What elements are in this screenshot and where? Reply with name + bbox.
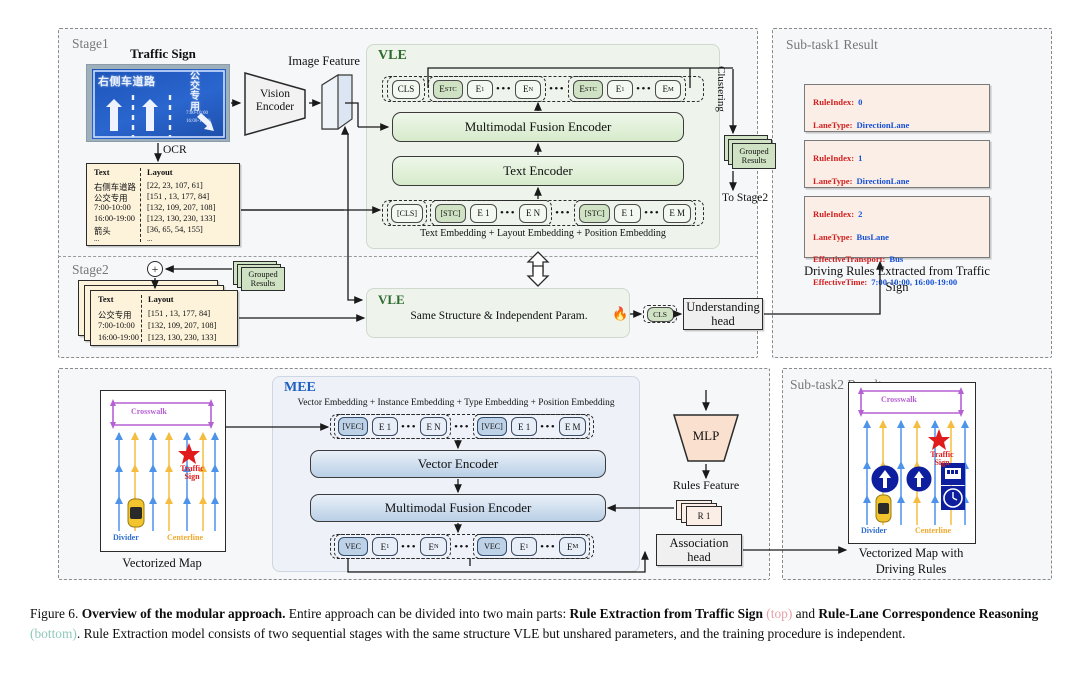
- caption-bold1: Rule Extraction from Traffic Sign: [570, 606, 763, 621]
- subtask1-label: Sub-task1 Result: [786, 36, 896, 54]
- caption-mid: and: [792, 606, 818, 621]
- figure-caption: Figure 6. Overview of the modular approa…: [30, 604, 1052, 644]
- vle-out-group-2: ESTC E1 ••• EM: [568, 76, 686, 102]
- ellipsis-out-b: •••: [633, 83, 655, 95]
- rule-2-line-1: LaneType: BusLane: [813, 225, 981, 248]
- rule-card-1[interactable]: RuleIndex: 1 LaneType: DirectionLane Lan…: [804, 140, 990, 188]
- ocr-cell-layout-1: [151 , 13, 177, 84]: [147, 192, 209, 201]
- sum-node: +: [147, 261, 163, 277]
- subtask1-label-text: Sub-task1 Result: [786, 37, 878, 52]
- vle-in-group-1: [STC] E 1 ••• E N: [430, 200, 552, 226]
- caption-bottom: (bottom): [30, 626, 77, 641]
- map-right-crosswalk-label: Crosswalk: [881, 395, 917, 404]
- caption-title: Overview of the modular approach.: [82, 606, 286, 621]
- map-left-divider-label: Divider: [113, 533, 139, 542]
- token-em-mee-in-b[interactable]: E M: [559, 417, 586, 436]
- stage2-header-text: Text: [98, 295, 114, 304]
- traffic-sign-title: Traffic Sign: [108, 46, 218, 62]
- map-right-traffic-sign-label: Traffic Sign: [925, 451, 959, 468]
- rule-0-val-1: DirectionLane: [856, 120, 909, 130]
- stage2-label: Stage2: [72, 262, 109, 278]
- map-left-traffic-sign-text: Traffic Sign: [180, 464, 203, 481]
- ocr-cell-layout-3: [123, 130, 230, 133]: [147, 214, 215, 223]
- token-e1-mee-in-a[interactable]: E 1: [372, 417, 398, 436]
- ellipsis-mee-out-b: •••: [537, 541, 559, 553]
- ocr-cell-layout-2: [132, 109, 207, 108]: [147, 203, 215, 212]
- vle-embedding-caption: Text Embedding + Layout Embedding + Posi…: [382, 228, 704, 239]
- token-e1-in-b[interactable]: E 1: [614, 204, 641, 223]
- rule-1-val-0: 1: [858, 153, 862, 163]
- vle-in-cls-group: [CLS]: [387, 200, 427, 226]
- ocr-table-divider: [140, 168, 141, 242]
- rule-0-key-0: RuleIndex:: [813, 97, 854, 107]
- figure-canvas: Stage1 Stage2 Sub-task1 Result Traffic S…: [0, 0, 1080, 600]
- mee-in-group-1: [VEC] E 1 ••• E N: [334, 414, 451, 439]
- token-estc-1[interactable]: ESTC: [433, 80, 463, 99]
- stage2-cell-text-0: 公交专用: [98, 309, 132, 321]
- mee-out-group-1: VEC E1 ••• EN: [334, 534, 451, 559]
- stage2-cell-layout-2: [123, 130, 230, 133]: [148, 333, 216, 342]
- token-vec-out-2[interactable]: VEC: [477, 537, 507, 556]
- token-em-mee-out-b[interactable]: EM: [559, 537, 586, 556]
- ellipsis-mee-in-a: •••: [398, 421, 420, 433]
- multimodal-fusion-encoder-stage1[interactable]: Multimodal Fusion Encoder: [392, 112, 684, 142]
- ocr-cell-text-5: ...: [94, 235, 99, 243]
- ocr-cell-layout-5: ...: [147, 235, 152, 243]
- cls-token-stage2[interactable]: CLS: [647, 307, 674, 322]
- ocr-cell-layout-4: [36, 65, 54, 155]: [147, 225, 203, 234]
- token-cls-out[interactable]: CLS: [392, 80, 420, 99]
- rule-card-2[interactable]: RuleIndex: 2 LaneType: BusLane Effective…: [804, 196, 990, 258]
- subtask1-caption: Driving Rules Extracted from Traffic Sig…: [804, 264, 990, 295]
- subtask2-caption-text: Vectorized Map with Driving Rules: [859, 546, 964, 576]
- mee-input-token-row: [VEC] E 1 ••• E N ••• [VEC] E 1 ••• E M: [330, 414, 594, 439]
- caption-top: (top): [766, 606, 792, 621]
- stage1-label: Stage1: [72, 36, 109, 52]
- vle-input-token-row: [CLS] [STC] E 1 ••• E N ••• [STC] E 1 ••…: [382, 200, 704, 226]
- rule-0-val-0: 0: [858, 97, 862, 107]
- stage2-header-layout: Layout: [148, 295, 174, 304]
- vector-encoder-label: Vector Encoder: [418, 456, 499, 472]
- stage2-table-divider: [141, 295, 142, 342]
- rule-1-key-0: RuleIndex:: [813, 153, 854, 163]
- caption-bold2: Rule-Lane Correspondence Reasoning: [818, 606, 1038, 621]
- ocr-table-header-layout: Layout: [147, 168, 173, 177]
- rules-feature-stack[interactable]: R 1: [676, 500, 732, 528]
- mee-embedding-caption: Vector Embedding + Instance Embedding + …: [278, 398, 634, 408]
- image-feature-shape: [318, 73, 360, 135]
- ocr-label: OCR: [163, 144, 187, 156]
- sign-arrows-icon: [92, 69, 226, 139]
- token-stc-in-1[interactable]: [STC]: [435, 204, 466, 223]
- vision-encoder-text: Vision Encoder: [256, 88, 294, 113]
- token-stc-in-2[interactable]: [STC]: [579, 204, 610, 223]
- stage2-cell-layout-0: [151 , 13, 177, 84]: [148, 309, 210, 318]
- mlp-label: MLP: [668, 428, 744, 444]
- text-encoder-label: Text Encoder: [503, 163, 572, 179]
- understanding-head-label: Understanding head: [684, 300, 762, 328]
- rule-2-val-0: 2: [858, 209, 862, 219]
- ocr-cell-layout-0: [22, 23, 107, 61]: [147, 181, 203, 190]
- vectorized-map-caption: Vectorized Map: [100, 556, 224, 571]
- understanding-head[interactable]: Understanding head: [683, 298, 763, 330]
- vle-out-cls-group: CLS: [387, 76, 425, 102]
- ellipsis-mee-in-b: •••: [537, 421, 559, 433]
- token-e1-mee-out-b[interactable]: E1: [511, 537, 537, 556]
- rule-0-line-0: RuleIndex: 0: [813, 90, 981, 113]
- ellipsis-out-a: •••: [493, 83, 515, 95]
- token-cls-in[interactable]: [CLS]: [391, 204, 423, 223]
- time-restriction-sign-icon: [941, 486, 965, 510]
- vle-tag-stage2: VLE: [378, 292, 405, 308]
- multimodal-fusion-encoder-mee-label: Multimodal Fusion Encoder: [385, 500, 532, 516]
- map-left-crosswalk-label: Crosswalk: [131, 407, 167, 416]
- traffic-sign-star-icon: [178, 443, 200, 464]
- cls-token-stage2-wrap: CLS: [643, 305, 677, 323]
- image-feature-title: Image Feature: [283, 54, 365, 69]
- vle-out-group-1: ESTC E1 ••• EN: [428, 76, 546, 102]
- token-en-in-a[interactable]: E N: [519, 204, 547, 223]
- token-vec-out-1[interactable]: VEC: [338, 537, 368, 556]
- rules-feature-label: Rules Feature: [660, 478, 752, 493]
- traffic-sign-star-icon-right: [928, 429, 950, 450]
- rule-1-line-0: RuleIndex: 1: [813, 146, 981, 169]
- vector-encoder[interactable]: Vector Encoder: [310, 450, 606, 478]
- token-e1-mee-out-a[interactable]: E1: [372, 537, 398, 556]
- caption-body1: Entire approach can be divided into two …: [285, 606, 569, 621]
- car-icon-right: [876, 495, 891, 522]
- stage2-cell-text-2: 16:00-19:00: [98, 333, 139, 342]
- token-vec-in-2[interactable]: [VEC]: [477, 417, 507, 436]
- vle-in-group-2: [STC] E 1 ••• E M: [574, 200, 696, 226]
- token-e1-in-a[interactable]: E 1: [470, 204, 497, 223]
- rules-feature-token[interactable]: R 1: [686, 506, 722, 526]
- map-left-traffic-sign-label: Traffic Sign: [175, 465, 209, 482]
- association-head[interactable]: Association head: [656, 534, 742, 566]
- subtask2-caption: Vectorized Map with Driving Rules: [838, 546, 984, 577]
- multimodal-fusion-encoder-mee[interactable]: Multimodal Fusion Encoder: [310, 494, 606, 522]
- map-right-divider-label: Divider: [861, 526, 887, 535]
- map-left-centerline-label: Centerline: [167, 533, 203, 542]
- stage-divider: [58, 256, 758, 257]
- association-head-label: Association head: [657, 536, 741, 564]
- mee-out-group-2: VEC E1 ••• EM: [473, 534, 590, 559]
- car-icon: [128, 499, 144, 527]
- rule-1-line-1: LaneType: DirectionLane: [813, 169, 981, 192]
- ellipsis-in-b: •••: [641, 207, 663, 219]
- rule-2-key-1: LaneType:: [813, 232, 852, 242]
- token-e1-a[interactable]: E1: [467, 80, 493, 99]
- vision-encoder-label: Vision Encoder: [246, 88, 304, 113]
- stage2-cell-text-1: 7:00-10:00: [98, 321, 135, 330]
- go-straight-sign-icon-1: [872, 466, 898, 492]
- caption-body2: . Rule Extraction model consists of two …: [77, 626, 906, 641]
- go-straight-sign-icon-2: [907, 467, 931, 491]
- sum-node-label: +: [152, 263, 159, 275]
- flame-icon: 🔥: [612, 306, 628, 322]
- grouped-results-2[interactable]: Grouped Results: [241, 267, 285, 291]
- text-encoder-stage1[interactable]: Text Encoder: [392, 156, 684, 186]
- rule-2-val-2: Bus: [889, 254, 903, 264]
- ocr-cell-text-2: 7:00-10:00: [94, 203, 131, 212]
- ellipsis-mee-out-mid: •••: [451, 541, 473, 553]
- ellipsis-mee-out-a: •••: [398, 541, 420, 553]
- vle-tag-stage1: VLE: [378, 48, 407, 64]
- grouped-results-2-label: Grouped Results: [242, 270, 284, 289]
- rule-2-key-0: RuleIndex:: [813, 209, 854, 219]
- ocr-cell-text-3: 16:00-19:00: [94, 214, 135, 223]
- vectorized-map-right: Crosswalk Traffic Sign Divider Centerlin…: [848, 382, 976, 544]
- token-vec-in-1[interactable]: [VEC]: [338, 417, 368, 436]
- multimodal-fusion-encoder-label: Multimodal Fusion Encoder: [465, 119, 612, 135]
- rule-0-line-1: LaneType: DirectionLane: [813, 113, 981, 136]
- ellipsis-out-mid: •••: [546, 83, 568, 95]
- traffic-sign-image: 右侧车道路 公交专用 7:00-10:00 16:00-19:00: [86, 64, 230, 142]
- ellipsis-mee-in-mid: •••: [451, 421, 473, 433]
- rule-2-key-2: EffectiveTransport:: [813, 254, 885, 264]
- caption-number: Figure 6.: [30, 606, 78, 621]
- token-estc-2[interactable]: ESTC: [573, 80, 603, 99]
- mee-output-token-row: VEC E1 ••• EN ••• VEC E1 ••• EM: [330, 534, 594, 559]
- rule-1-key-1: LaneType:: [813, 176, 852, 186]
- token-en-a[interactable]: EN: [515, 80, 541, 99]
- rule-2-val-1: BusLane: [856, 232, 888, 242]
- grouped-results-stack-1[interactable]: Grouped Results: [724, 135, 780, 171]
- ocr-table: Text Layout 右侧车道路 [22, 23, 107, 61] 公交专用…: [86, 163, 240, 246]
- to-stage2-label: To Stage2: [722, 192, 768, 204]
- rule-card-0[interactable]: RuleIndex: 0 LaneType: DirectionLane Lan…: [804, 84, 990, 132]
- vectorized-map-left: Traffic Sign Crosswalk Divider Centerlin…: [100, 390, 226, 552]
- token-em-b[interactable]: EM: [655, 80, 681, 99]
- ellipsis-in-a: •••: [497, 207, 519, 219]
- mee-in-group-2: [VEC] E 1 ••• E M: [473, 414, 590, 439]
- grouped-results-stack-2[interactable]: Grouped Results: [233, 261, 293, 293]
- map-right-centerline-label: Centerline: [915, 526, 951, 535]
- ellipsis-in-mid: •••: [552, 207, 574, 219]
- token-en-mee-in-a[interactable]: E N: [420, 417, 447, 436]
- clustering-label: Clustering: [715, 66, 727, 112]
- stage2-cell-layout-1: [132, 109, 207, 108]: [148, 321, 216, 330]
- rule-1-val-1: DirectionLane: [856, 176, 909, 186]
- token-en-mee-out-a[interactable]: EN: [420, 537, 447, 556]
- vle-stage2-text: Same Structure & Independent Param.: [390, 310, 608, 322]
- stage2-table: Text Layout 公交专用 [151 , 13, 177, 84] 7:0…: [90, 290, 238, 346]
- map-right-traffic-sign-text: Traffic Sign: [930, 450, 953, 467]
- rule-0-key-1: LaneType:: [813, 120, 852, 130]
- token-e1-b[interactable]: E1: [607, 80, 633, 99]
- token-em-in-b[interactable]: E M: [663, 204, 691, 223]
- vle-output-token-row: CLS ESTC E1 ••• EN ••• ESTC E1 ••• EM: [382, 76, 704, 102]
- rules-feature-token-label: R 1: [698, 511, 711, 521]
- grouped-results-1-label: Grouped Results: [733, 147, 775, 166]
- ocr-table-header-text: Text: [94, 168, 110, 177]
- subtask1-caption-text: Driving Rules Extracted from Traffic Sig…: [804, 264, 990, 294]
- grouped-results-1[interactable]: Grouped Results: [732, 143, 776, 169]
- rule-2-line-0: RuleIndex: 2: [813, 202, 981, 225]
- mee-tag: MEE: [284, 380, 316, 396]
- token-e1-mee-in-b[interactable]: E 1: [511, 417, 537, 436]
